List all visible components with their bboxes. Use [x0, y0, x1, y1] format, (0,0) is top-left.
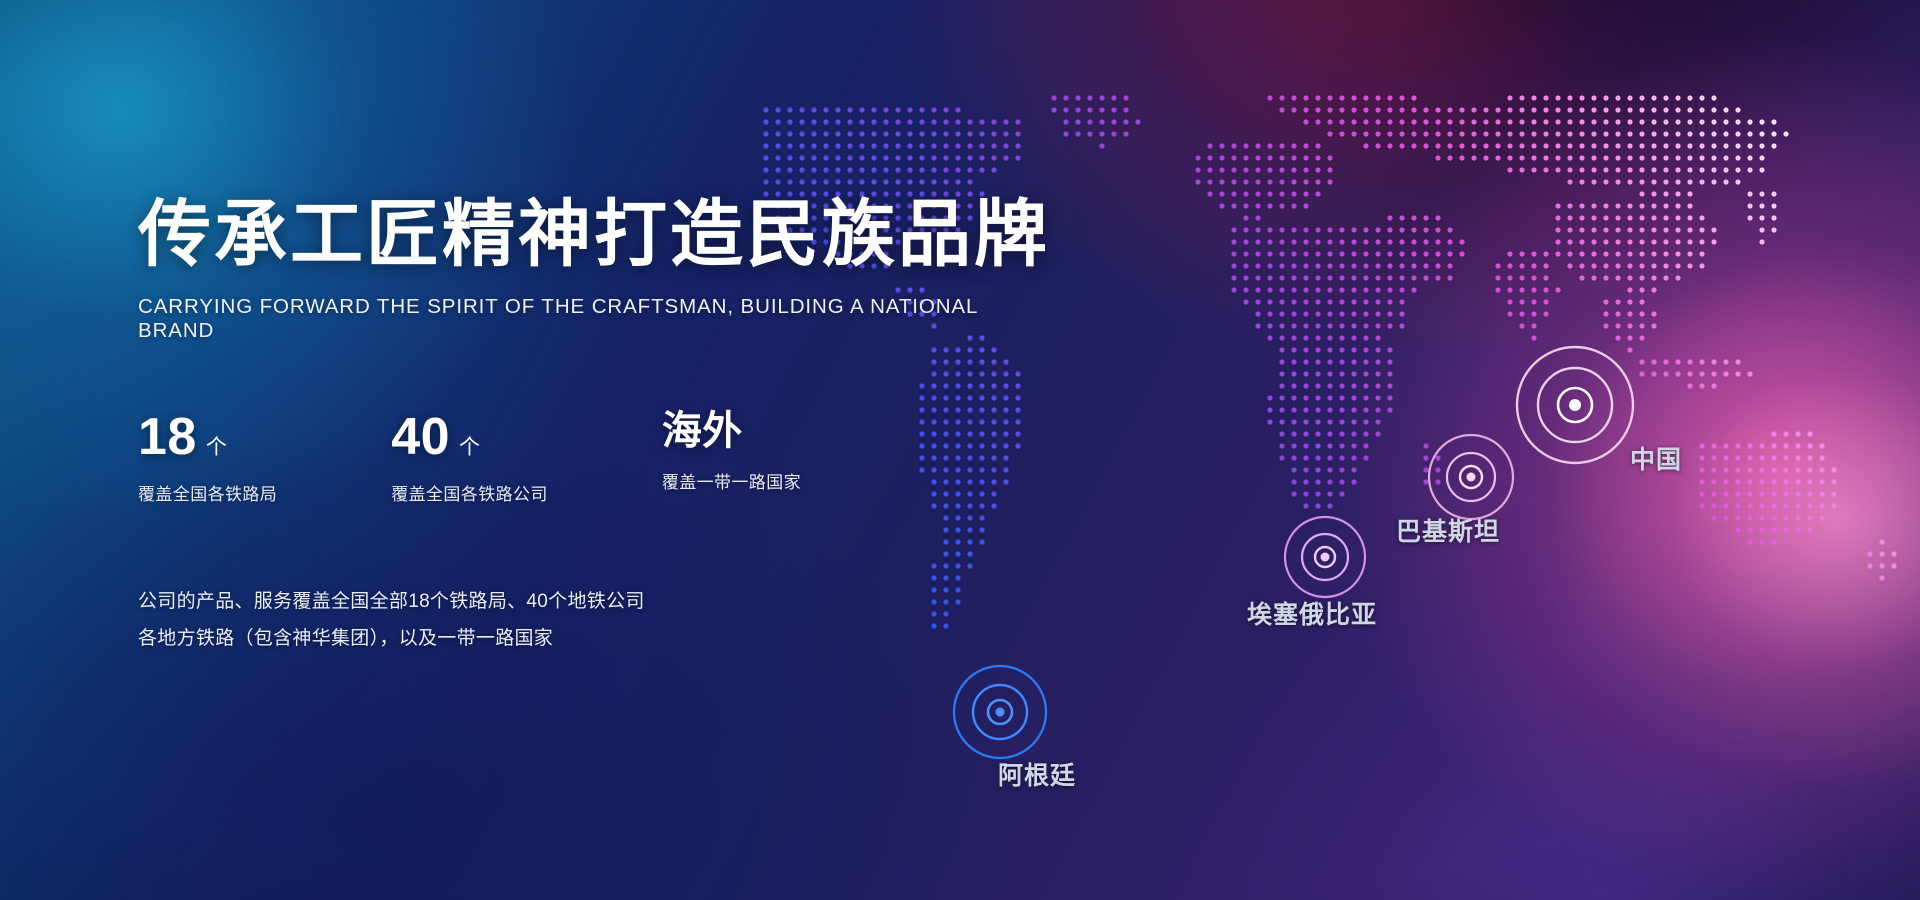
stat-value: 40: [391, 411, 450, 463]
stat-item: 18 个 覆盖全国各铁路局: [138, 411, 277, 505]
stat-description: 覆盖全国各铁路局: [138, 480, 277, 505]
map-marker-label: 埃塞俄比亚: [1247, 595, 1377, 631]
stat-value: 18: [138, 411, 197, 463]
stat-value-row: 40 个: [391, 411, 548, 463]
map-marker-label: 阿根廷: [998, 756, 1076, 792]
page-subtitle: CARRYING FORWARD THE SPIRIT OF THE CRAFT…: [138, 295, 1058, 343]
stat-unit: 个: [459, 431, 480, 461]
stat-description: 覆盖一带一路国家: [662, 468, 801, 493]
stat-value: 海外: [662, 411, 743, 451]
stat-item: 海外 覆盖一带一路国家: [662, 411, 801, 505]
stat-value-row: 18 个: [138, 411, 277, 463]
stat-unit: 个: [206, 431, 227, 461]
map-marker-label: 中国: [1630, 440, 1682, 476]
description-line-1: 公司的产品、服务覆盖全国全部18个铁路局、40个地铁公司: [138, 583, 1058, 620]
page-title: 传承工匠精神打造民族品牌: [138, 196, 1058, 273]
stat-item: 40 个 覆盖全国各铁路公司: [391, 411, 548, 505]
content-block: 传承工匠精神打造民族品牌 CARRYING FORWARD THE SPIRIT…: [138, 196, 1058, 657]
description-paragraph: 公司的产品、服务覆盖全国全部18个铁路局、40个地铁公司 各地方铁路（包含神华集…: [138, 583, 1058, 657]
stats-row: 18 个 覆盖全国各铁路局 40 个 覆盖全国各铁路公司 海外 覆盖一带一路国家: [138, 411, 1058, 505]
stat-value-row: 海外: [662, 411, 801, 451]
stat-description: 覆盖全国各铁路公司: [391, 480, 548, 505]
map-marker-label: 巴基斯坦: [1396, 512, 1500, 548]
description-line-2: 各地方铁路（包含神华集团），以及一带一路国家: [138, 620, 1058, 657]
banner-stage: 中国 巴基斯坦 埃塞俄比亚 阿根廷 传承工匠精神打造民族品牌 CARR: [0, 0, 1920, 900]
